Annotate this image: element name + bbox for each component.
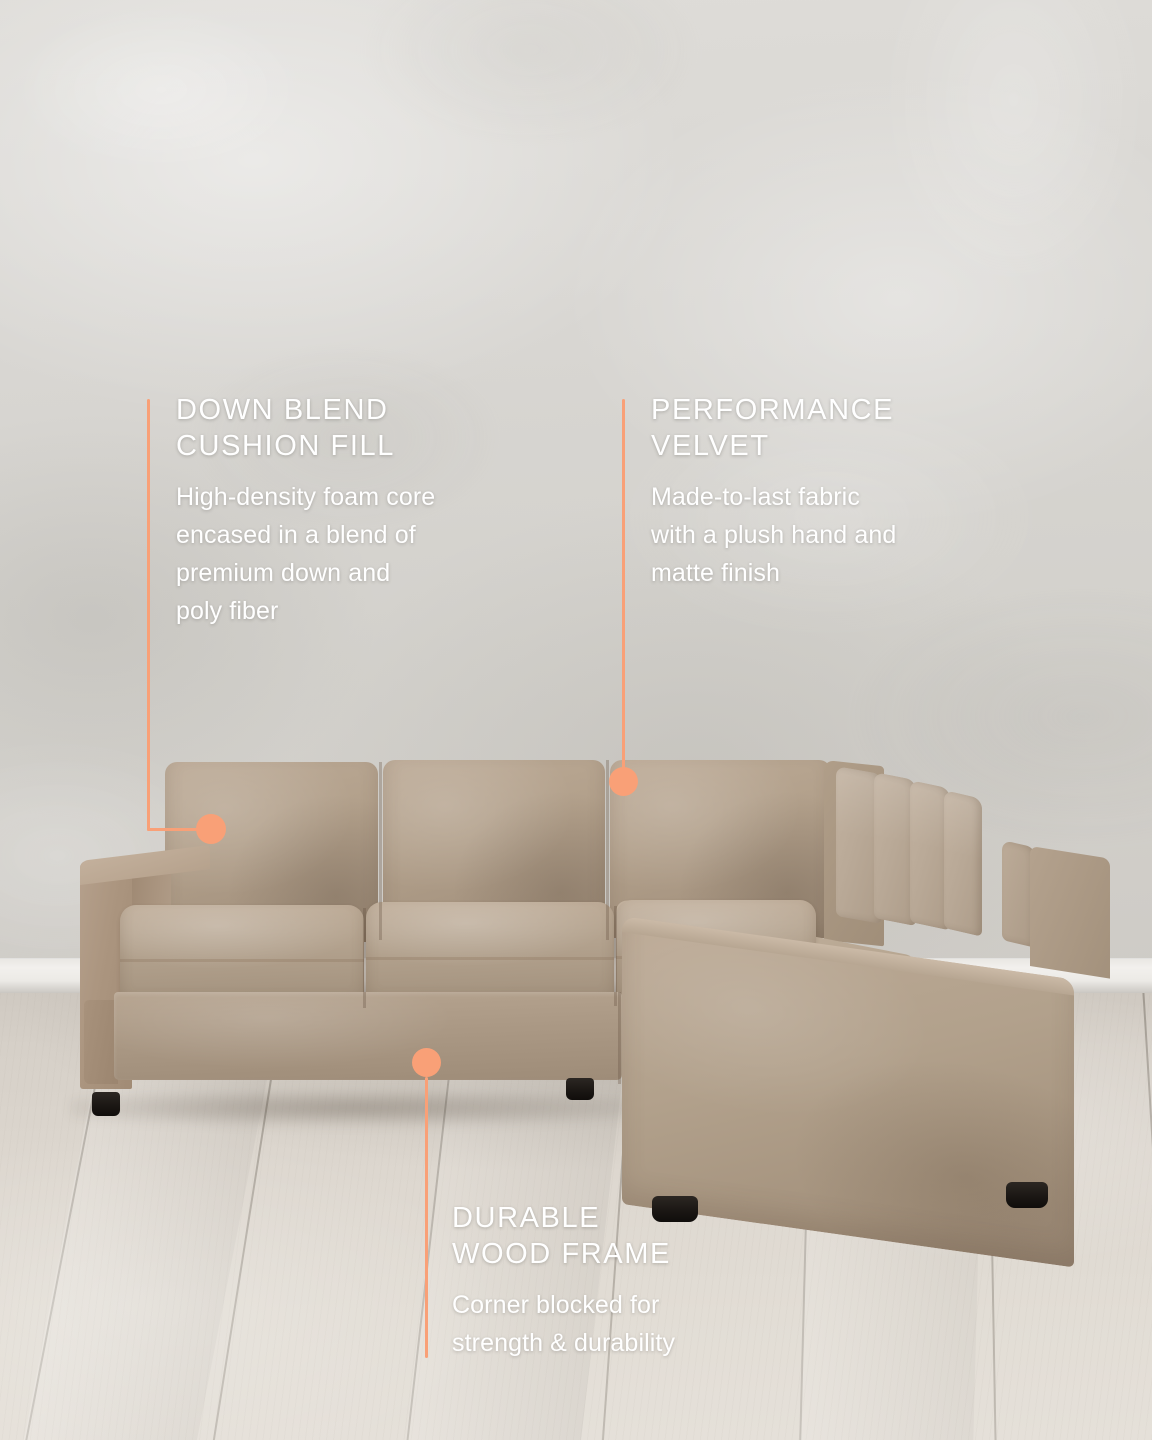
module-division-seam <box>618 992 621 1084</box>
callout-title: PERFORMANCE VELVET <box>651 392 981 464</box>
callout-title: DOWN BLEND CUSHION FILL <box>176 392 546 464</box>
leader-line-vertical <box>147 399 150 831</box>
leader-line-vertical <box>425 1077 428 1358</box>
leader-line-vertical <box>622 399 625 781</box>
seat-cushion-seam-2 <box>614 906 617 1006</box>
callout-text-block: DOWN BLEND CUSHION FILL High-density foa… <box>176 392 546 630</box>
sofa-foot-return-back <box>1006 1182 1048 1208</box>
sofa-foot-front-left <box>92 1092 120 1116</box>
return-back-cushion-4 <box>944 790 982 937</box>
callout-body: High-density foam core encased in a blen… <box>176 478 546 630</box>
back-cushion-seam-1 <box>379 762 382 940</box>
dot-marker <box>412 1048 441 1077</box>
right-back-block <box>1030 846 1110 979</box>
seat-cushion-seam-1 <box>363 908 366 1008</box>
callout-body: Made-to-last fabric with a plush hand an… <box>651 478 981 592</box>
dot-marker <box>609 767 638 796</box>
base-rail-front <box>114 992 622 1080</box>
callout-text-block: DURABLE WOOD FRAME Corner blocked for st… <box>452 1200 782 1362</box>
base-rail-left-return <box>84 1000 118 1084</box>
dot-marker <box>196 814 226 844</box>
sofa-foot-front-right <box>566 1078 594 1100</box>
callout-text-block: PERFORMANCE VELVET Made-to-last fabric w… <box>651 392 981 592</box>
back-cushion-seam-2 <box>606 760 609 940</box>
product-feature-scene: DOWN BLEND CUSHION FILL High-density foa… <box>0 0 1152 1440</box>
callout-body: Corner blocked for strength & durability <box>452 1286 782 1362</box>
callout-title: DURABLE WOOD FRAME <box>452 1200 782 1272</box>
